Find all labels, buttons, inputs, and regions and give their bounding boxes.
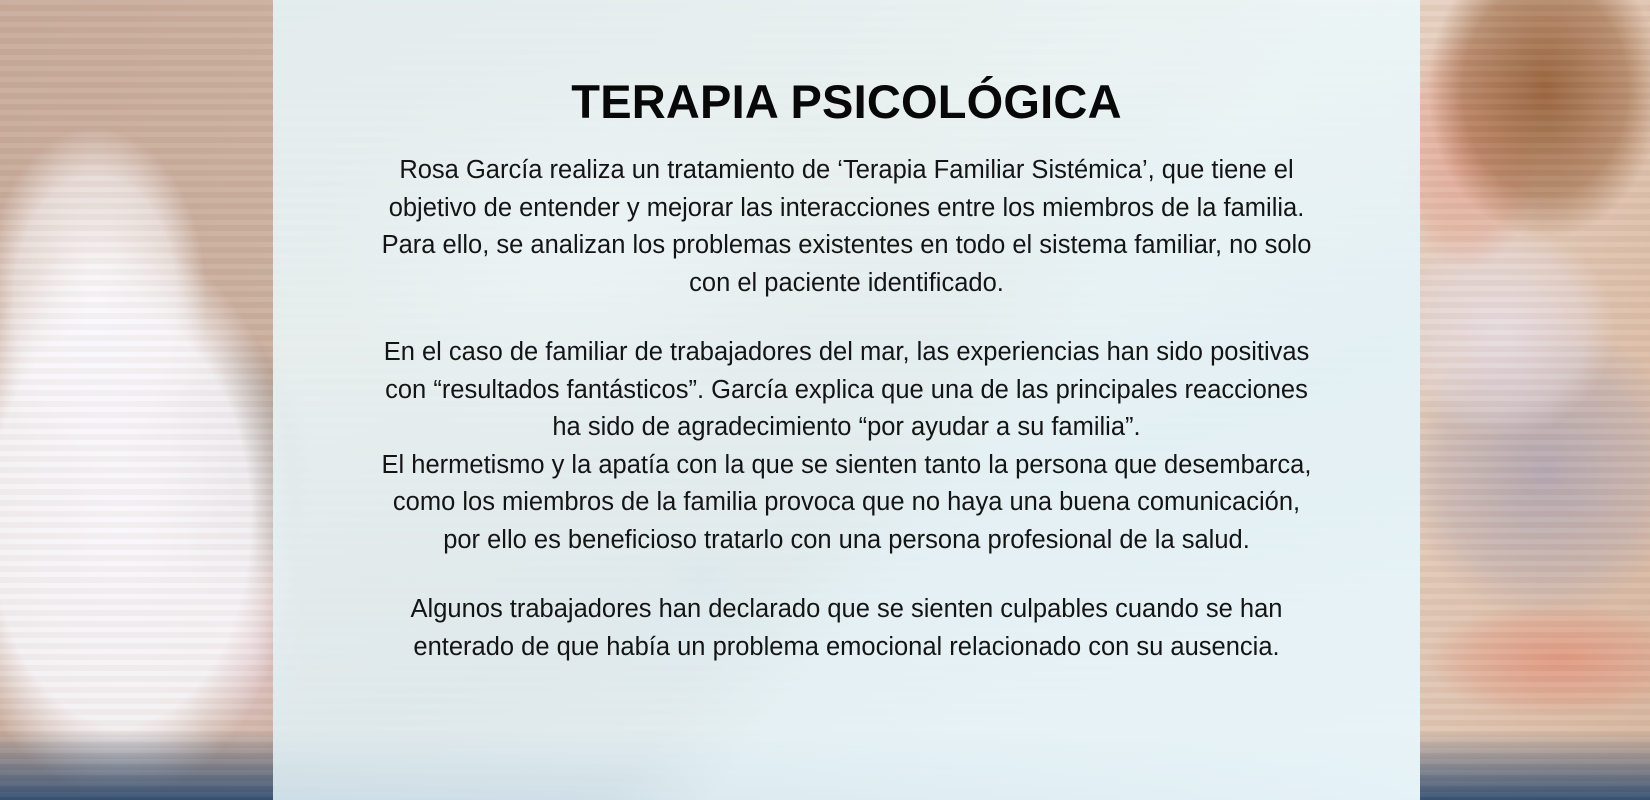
paragraph-1: Rosa García realiza un tratamiento de ‘T… bbox=[325, 152, 1368, 302]
paragraph-2-line-5: como los miembros de la familia provoca … bbox=[325, 484, 1368, 522]
body-text-block: Rosa García realiza un tratamiento de ‘T… bbox=[325, 152, 1368, 666]
paragraph-1-line-3: Para ello, se analizan los problemas exi… bbox=[325, 227, 1368, 265]
paragraph-2-line-4: El hermetismo y la apatía con la que se … bbox=[325, 447, 1368, 485]
panel-content: TERAPIA PSICOLÓGICA Rosa García realiza … bbox=[273, 0, 1420, 800]
slide-title: TERAPIA PSICOLÓGICA bbox=[273, 75, 1420, 129]
presentation-slide: TERAPIA PSICOLÓGICA Rosa García realiza … bbox=[0, 0, 1650, 800]
content-panel: TERAPIA PSICOLÓGICA Rosa García realiza … bbox=[273, 0, 1420, 800]
paragraph-3-line-2: enterado de que había un problema emocio… bbox=[325, 629, 1368, 667]
paragraph-1-line-1: Rosa García realiza un tratamiento de ‘T… bbox=[325, 152, 1368, 190]
paragraph-3-line-1: Algunos trabajadores han declarado que s… bbox=[325, 591, 1368, 629]
paragraph-2-line-1: En el caso de familiar de trabajadores d… bbox=[325, 334, 1368, 372]
paragraph-2-line-2: con “resultados fantásticos”. García exp… bbox=[325, 372, 1368, 410]
paragraph-1-line-2: objetivo de entender y mejorar las inter… bbox=[325, 190, 1368, 228]
paragraph-spacer-1 bbox=[325, 302, 1368, 334]
paragraph-2-line-3: ha sido de agradecimiento “por ayudar a … bbox=[325, 409, 1368, 447]
paragraph-2: En el caso de familiar de trabajadores d… bbox=[325, 334, 1368, 559]
paragraph-1-line-4: con el paciente identificado. bbox=[325, 265, 1368, 303]
paragraph-3: Algunos trabajadores han declarado que s… bbox=[325, 591, 1368, 666]
paragraph-2-line-6: por ello es beneficioso tratarlo con una… bbox=[325, 522, 1368, 560]
paragraph-spacer-2 bbox=[325, 559, 1368, 591]
